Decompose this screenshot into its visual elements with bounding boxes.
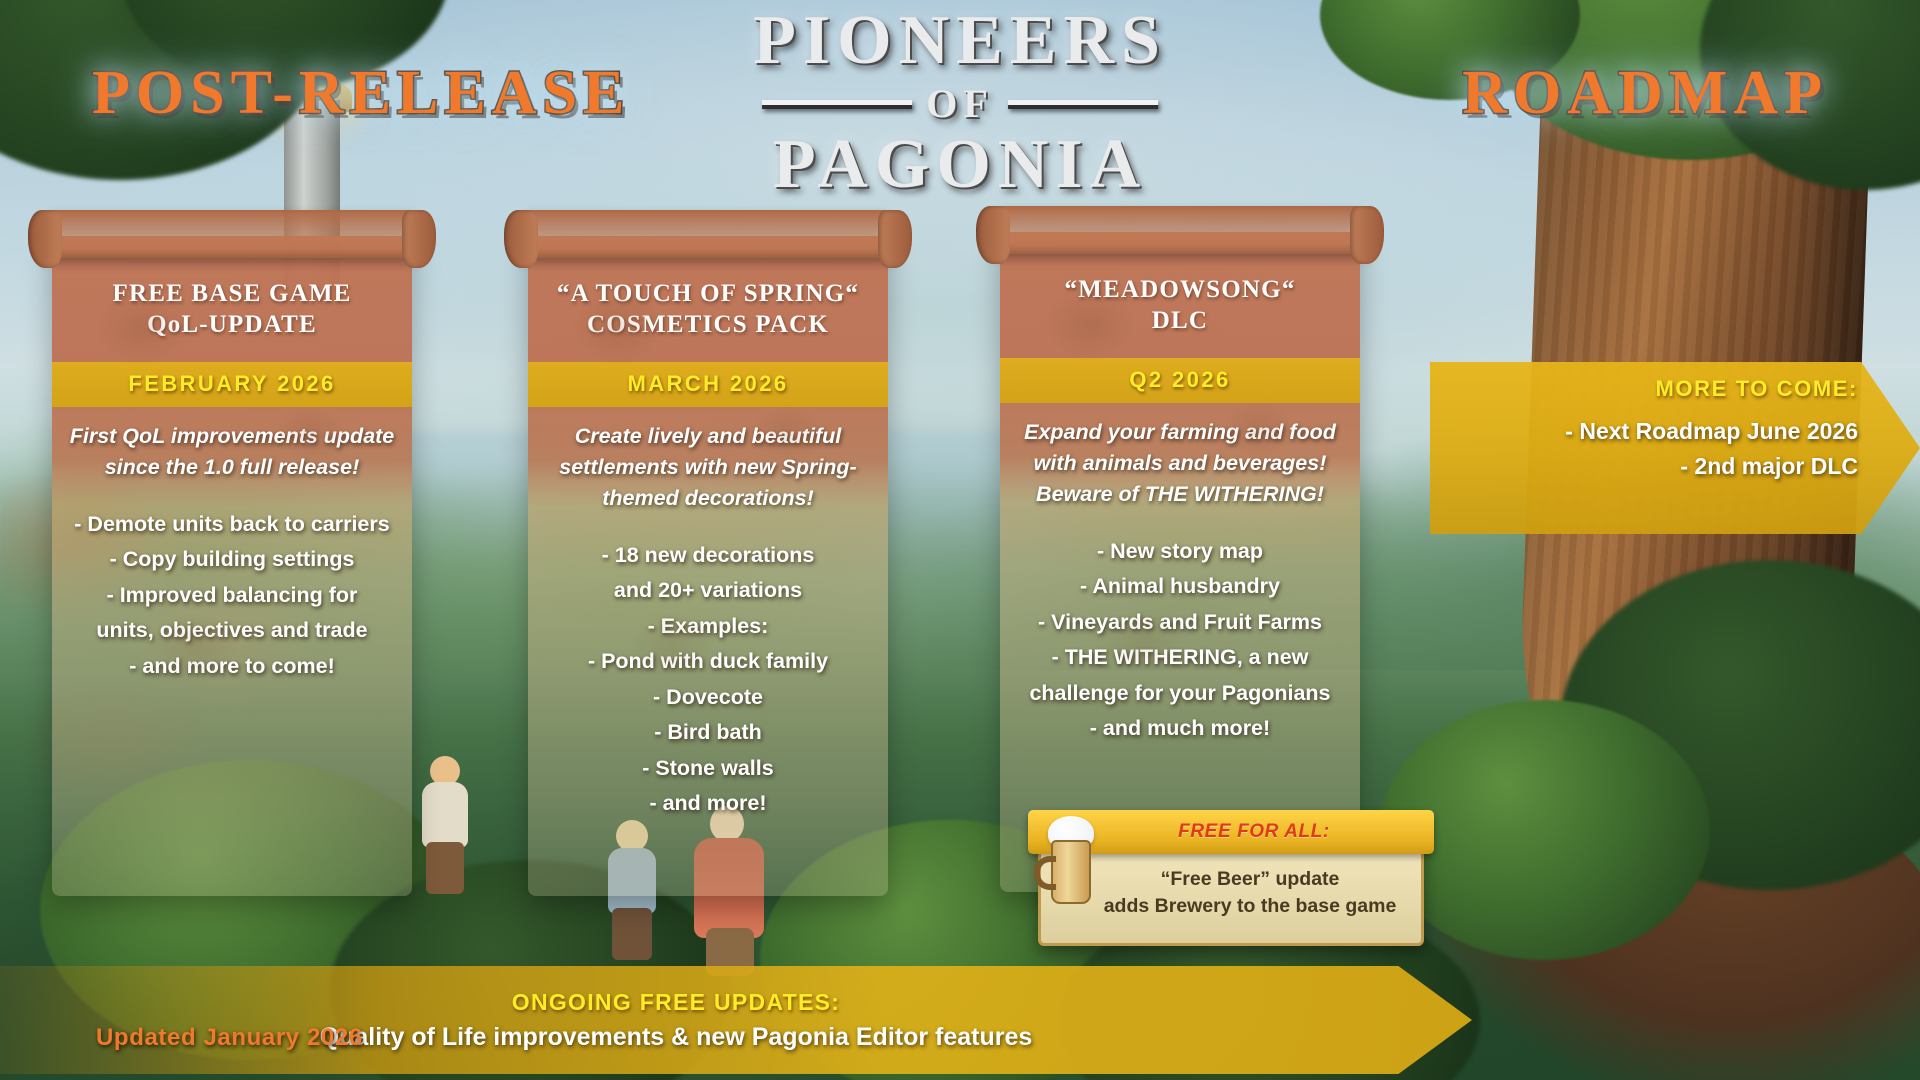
beer-body-icon (1051, 840, 1091, 904)
scroll-parchment: FREE BASE GAME QoL-UPDATE FEBRUARY 2026 … (52, 236, 412, 896)
free-beer-callout: FREE FOR ALL: “Free Beer” update adds Br… (1038, 818, 1424, 946)
free-beer-text: “Free Beer” update adds Brewery to the b… (1090, 866, 1410, 920)
character-villager-left (412, 756, 482, 896)
roadmap-panel-free-base-game[interactable]: FREE BASE GAME QoL-UPDATE FEBRUARY 2026 … (52, 236, 412, 896)
panel-title-line-2: QoL-UPDATE (66, 309, 398, 340)
list-item: - Dovecote (542, 682, 874, 713)
ongoing-updates-subtitle: Quality of Life improvements & new Pagon… (320, 1023, 1033, 1052)
game-title-line-3: PAGONIA (753, 130, 1167, 200)
list-item: units, objectives and trade (66, 615, 398, 646)
ongoing-updates-title: ONGOING FREE UPDATES: (512, 989, 840, 1016)
list-item: - Pond with duck family (542, 646, 874, 677)
roadmap-panel-meadowsong-dlc[interactable]: “MEADOWSONG“ DLC Q2 2026 Expand your far… (1000, 232, 1360, 892)
game-title-line-2: OF (926, 84, 994, 124)
game-title-of-row: OF (753, 84, 1167, 124)
more-to-come-title: MORE TO COME: (1456, 376, 1858, 402)
logo-rule-right-icon (1008, 100, 1158, 109)
scroll-curl-left-icon (976, 206, 1010, 264)
roadmap-panel-touch-of-spring[interactable]: “A TOUCH OF SPRING“ COSMETICS PACK MARCH… (528, 236, 888, 896)
beer-mug-icon (1032, 816, 1106, 912)
panel-lead-text: First QoL improvements update since the … (66, 421, 398, 483)
panel-title-line-1: FREE BASE GAME (66, 278, 398, 309)
list-item: - Demote units back to carriers (66, 509, 398, 540)
ongoing-updates-banner: ONGOING FREE UPDATES: Quality of Life im… (0, 966, 1472, 1074)
scroll-curl-right-icon (1350, 206, 1384, 264)
list-item: - and more! (542, 788, 874, 819)
list-item: - and more to come! (66, 651, 398, 682)
panel-date: FEBRUARY 2026 (52, 371, 412, 397)
list-item: - Stone walls (542, 753, 874, 784)
list-item: - THE WITHERING, a new (1014, 642, 1346, 673)
panel-date-band: MARCH 2026 (528, 362, 888, 407)
list-item: - Animal husbandry (1014, 571, 1346, 602)
panel-title: FREE BASE GAME QoL-UPDATE (66, 278, 398, 340)
updated-date-label: Updated January 2026 (96, 1024, 363, 1052)
list-item: - Examples: (542, 611, 874, 642)
logo-rule-left-icon (762, 100, 912, 109)
list-item: - Copy building settings (66, 544, 398, 575)
header-left-title: POST-RELEASE (92, 58, 630, 129)
scroll-curl-left-icon (504, 210, 538, 268)
list-item: - and much more! (1014, 713, 1346, 744)
list-item: - 2nd major DLC (1456, 449, 1858, 484)
panel-lead-text: Expand your farming and food with animal… (1014, 417, 1346, 510)
more-to-come-list: - Next Roadmap June 2026 - 2nd major DLC (1456, 414, 1858, 483)
free-beer-line-1: “Free Beer” update (1090, 866, 1410, 893)
panel-bullet-list: - 18 new decorations and 20+ variations … (542, 540, 874, 819)
list-item: - New story map (1014, 536, 1346, 567)
header-right-title: ROADMAP (1462, 58, 1828, 129)
game-logo: PIONEERS OF PAGONIA (753, 6, 1167, 200)
panel-bullet-list: - Demote units back to carriers - Copy b… (66, 509, 398, 682)
free-beer-line-2: adds Brewery to the base game (1090, 893, 1410, 920)
list-item: challenge for your Pagonians (1014, 678, 1346, 709)
list-item: - Bird bath (542, 717, 874, 748)
panel-title: “MEADOWSONG“ DLC (1014, 274, 1346, 336)
panel-lead-text: Create lively and beautiful settlements … (542, 421, 874, 514)
list-item: - Vineyards and Fruit Farms (1014, 607, 1346, 638)
scroll-parchment: “A TOUCH OF SPRING“ COSMETICS PACK MARCH… (528, 236, 888, 896)
panel-title-line-2: COSMETICS PACK (542, 309, 874, 340)
list-item: and 20+ variations (542, 575, 874, 606)
roadmap-infographic: POST-RELEASE ROADMAP PIONEERS OF PAGONIA… (0, 0, 1920, 1080)
scroll-curl-left-icon (28, 210, 62, 268)
panel-title-line-1: “A TOUCH OF SPRING“ (542, 278, 874, 309)
header: POST-RELEASE ROADMAP PIONEERS OF PAGONIA (0, 0, 1920, 220)
list-item: - Improved balancing for (66, 580, 398, 611)
scroll-parchment: “MEADOWSONG“ DLC Q2 2026 Expand your far… (1000, 232, 1360, 892)
panel-date-band: Q2 2026 (1000, 358, 1360, 403)
panel-bullet-list: - New story map - Animal husbandry - Vin… (1014, 536, 1346, 744)
panel-date: Q2 2026 (1000, 367, 1360, 393)
game-title-line-1: PIONEERS (753, 6, 1167, 76)
panel-title-line-2: DLC (1014, 305, 1346, 336)
panel-date: MARCH 2026 (528, 371, 888, 397)
beer-handle-icon (1034, 856, 1056, 890)
panel-title-line-1: “MEADOWSONG“ (1014, 274, 1346, 305)
scroll-curl-right-icon (878, 210, 912, 268)
list-item: - 18 new decorations (542, 540, 874, 571)
scroll-curl-right-icon (402, 210, 436, 268)
more-to-come-banner: MORE TO COME: - Next Roadmap June 2026 -… (1430, 362, 1920, 534)
panel-date-band: FEBRUARY 2026 (52, 362, 412, 407)
panel-title: “A TOUCH OF SPRING“ COSMETICS PACK (542, 278, 874, 340)
list-item: - Next Roadmap June 2026 (1456, 414, 1858, 449)
